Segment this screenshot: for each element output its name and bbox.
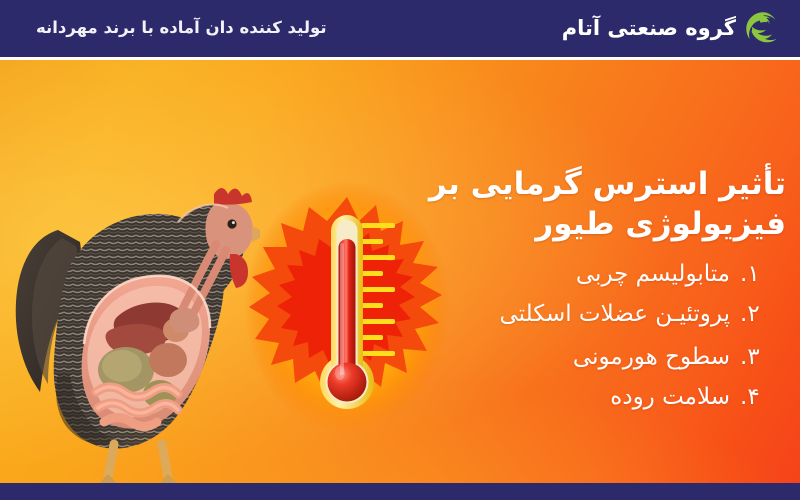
chicken-anatomy-illustration xyxy=(10,178,260,483)
chicken-anatomy-cutaway-icon xyxy=(10,178,260,483)
organ-crop xyxy=(170,308,200,333)
chicken-legs xyxy=(108,444,168,478)
list-item-number: ۲. xyxy=(730,299,786,330)
page-title: تأثیر استرس گرمایی بر فیزیولوژی طیور xyxy=(366,164,786,245)
list-item-label: متابولیسم چربی xyxy=(366,259,730,290)
header-tagline: تولید کننده دان آماده با برند مهردانه xyxy=(30,20,327,37)
chicken-comb xyxy=(214,188,252,205)
list-item-label: سطوح هورمونی xyxy=(366,342,730,373)
list-item: ۳. سطوح هورمونی xyxy=(366,342,786,373)
footer-bar xyxy=(0,483,800,500)
content-text-column: تأثیر استرس گرمایی بر فیزیولوژی طیور ۱. … xyxy=(366,164,786,423)
chicken-beak xyxy=(252,226,260,242)
brand-name: گروه صنعتی آتام xyxy=(562,18,736,39)
organ-ovary-egg xyxy=(149,343,187,377)
list-item: ۲. پروتئیـن عضلات اسکلتی xyxy=(366,299,786,330)
chicken-wattle xyxy=(230,254,248,288)
phoenix-bird-emblem-icon xyxy=(744,10,782,48)
brand-lockup: گروه صنعتی آتام xyxy=(562,10,782,48)
list-item: ۴. سلامت روده xyxy=(366,382,786,413)
effects-list: ۱. متابولیسم چربی ۲. پروتئیـن عضلات اسکل… xyxy=(366,259,786,414)
list-item-label: سلامت روده xyxy=(366,382,730,413)
list-item-number: ۱. xyxy=(730,259,786,290)
main-stage: تأثیر استرس گرمایی بر فیزیولوژی طیور ۱. … xyxy=(0,60,800,483)
header-bar: گروه صنعتی آتام تولید کننده دان آماده با… xyxy=(0,0,800,57)
list-item-number: ۳. xyxy=(730,342,786,373)
list-item-number: ۴. xyxy=(730,382,786,413)
list-item-label: پروتئیـن عضلات اسکلتی xyxy=(366,299,730,330)
list-item: ۱. متابولیسم چربی xyxy=(366,259,786,290)
poster-canvas: گروه صنعتی آتام تولید کننده دان آماده با… xyxy=(0,0,800,500)
